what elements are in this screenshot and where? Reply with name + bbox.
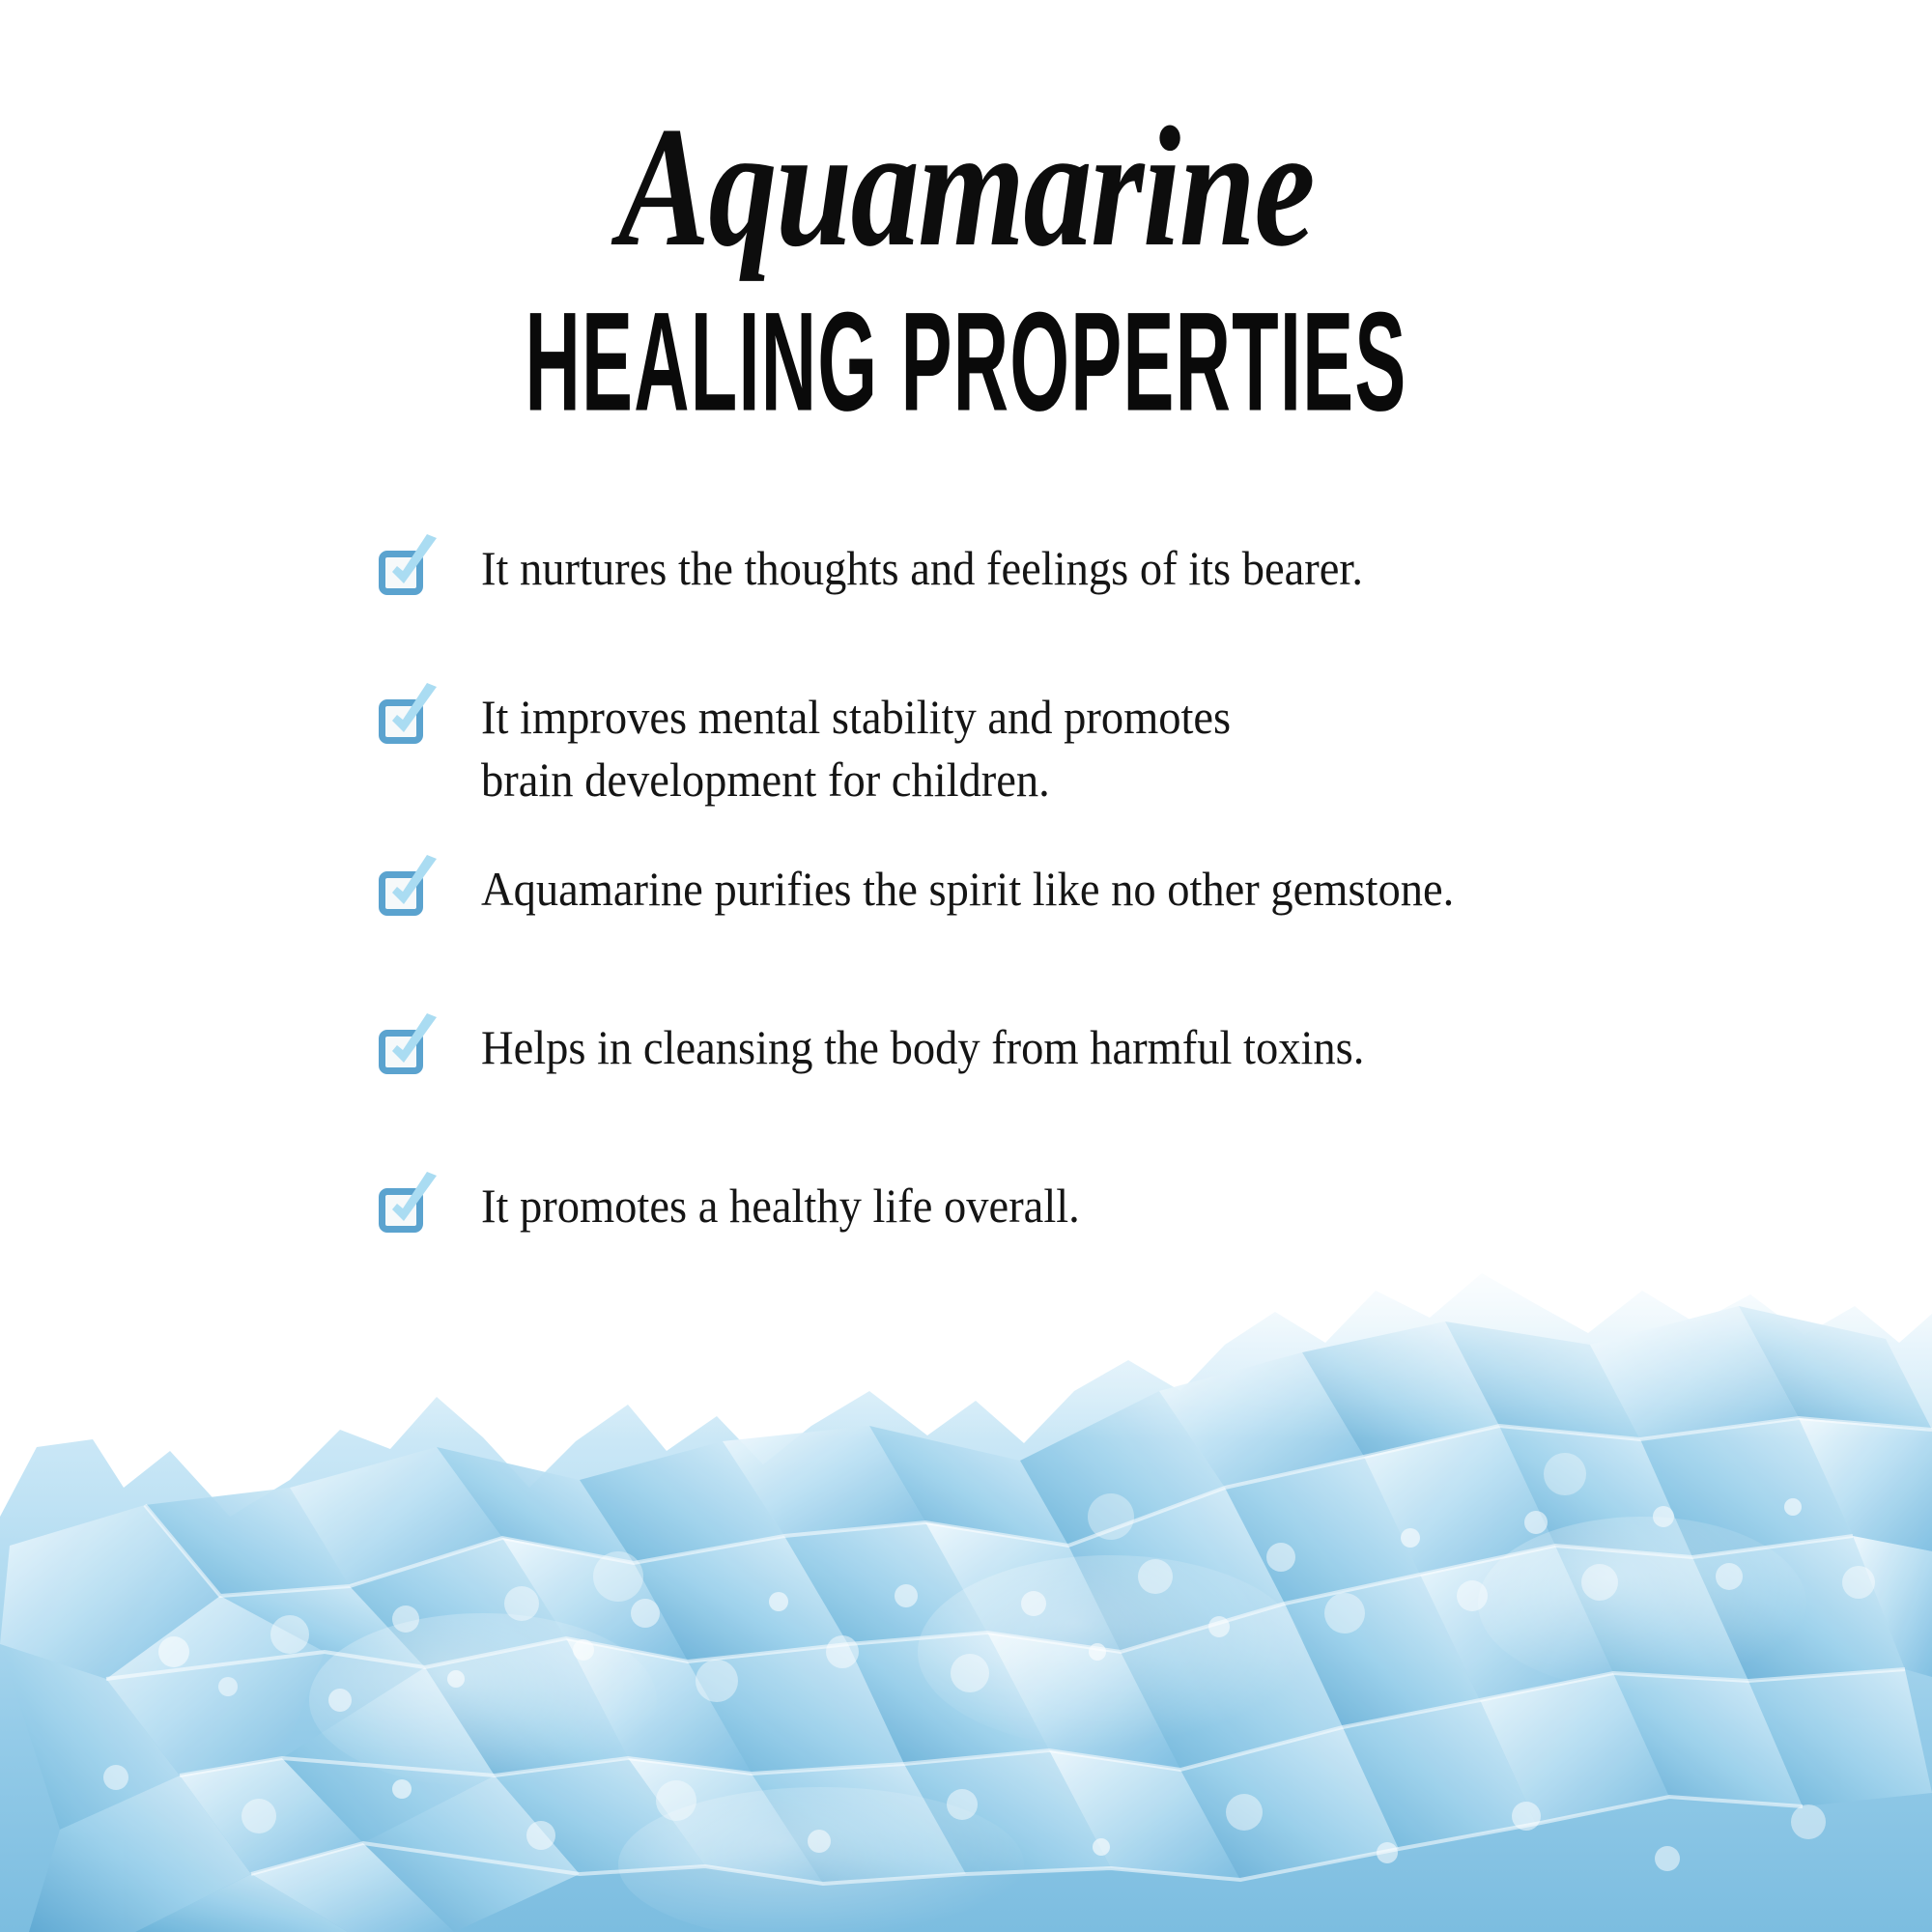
ice-cubes-photo [0, 1198, 1932, 1932]
checkmark-icon [381, 861, 440, 921]
checkbox-checked-icon [379, 1022, 439, 1082]
checkmark-icon [381, 1019, 440, 1079]
checkbox-checked-icon [379, 1180, 439, 1240]
list-item-label: It nurtures the thoughts and feelings of… [481, 537, 1363, 600]
list-item-label: It improves mental stability and promote… [481, 686, 1231, 811]
list-item-label: Helps in cleansing the body from harmful… [481, 1016, 1364, 1079]
checkbox-checked-icon [379, 692, 439, 752]
checkmark-icon [381, 1178, 440, 1237]
checkmark-icon [381, 540, 440, 600]
list-item: It nurtures the thoughts and feelings of… [379, 537, 1828, 603]
checkmark-icon [381, 689, 440, 749]
page-title: Aquamarine [193, 0, 1739, 272]
list-item-label: It promotes a healthy life overall. [481, 1175, 1080, 1237]
checkbox-checked-icon [379, 864, 439, 923]
ice-illustration [0, 1198, 1932, 1932]
page-subtitle: HEALING PROPERTIES [367, 272, 1565, 433]
list-item: Aquamarine purifies the spirit like no o… [379, 858, 1828, 923]
header: Aquamarine HEALING PROPERTIES [0, 0, 1932, 413]
list-item: Helps in cleansing the body from harmful… [379, 1016, 1828, 1082]
checkbox-checked-icon [379, 543, 439, 603]
list-item: It promotes a healthy life overall. [379, 1175, 1828, 1240]
healing-properties-list: It nurtures the thoughts and feelings of… [379, 537, 1828, 1240]
poster-canvas: Aquamarine HEALING PROPERTIES It nurture… [0, 0, 1932, 1932]
list-item-label: Aquamarine purifies the spirit like no o… [481, 858, 1454, 921]
list-item: It improves mental stability and promote… [379, 686, 1828, 811]
